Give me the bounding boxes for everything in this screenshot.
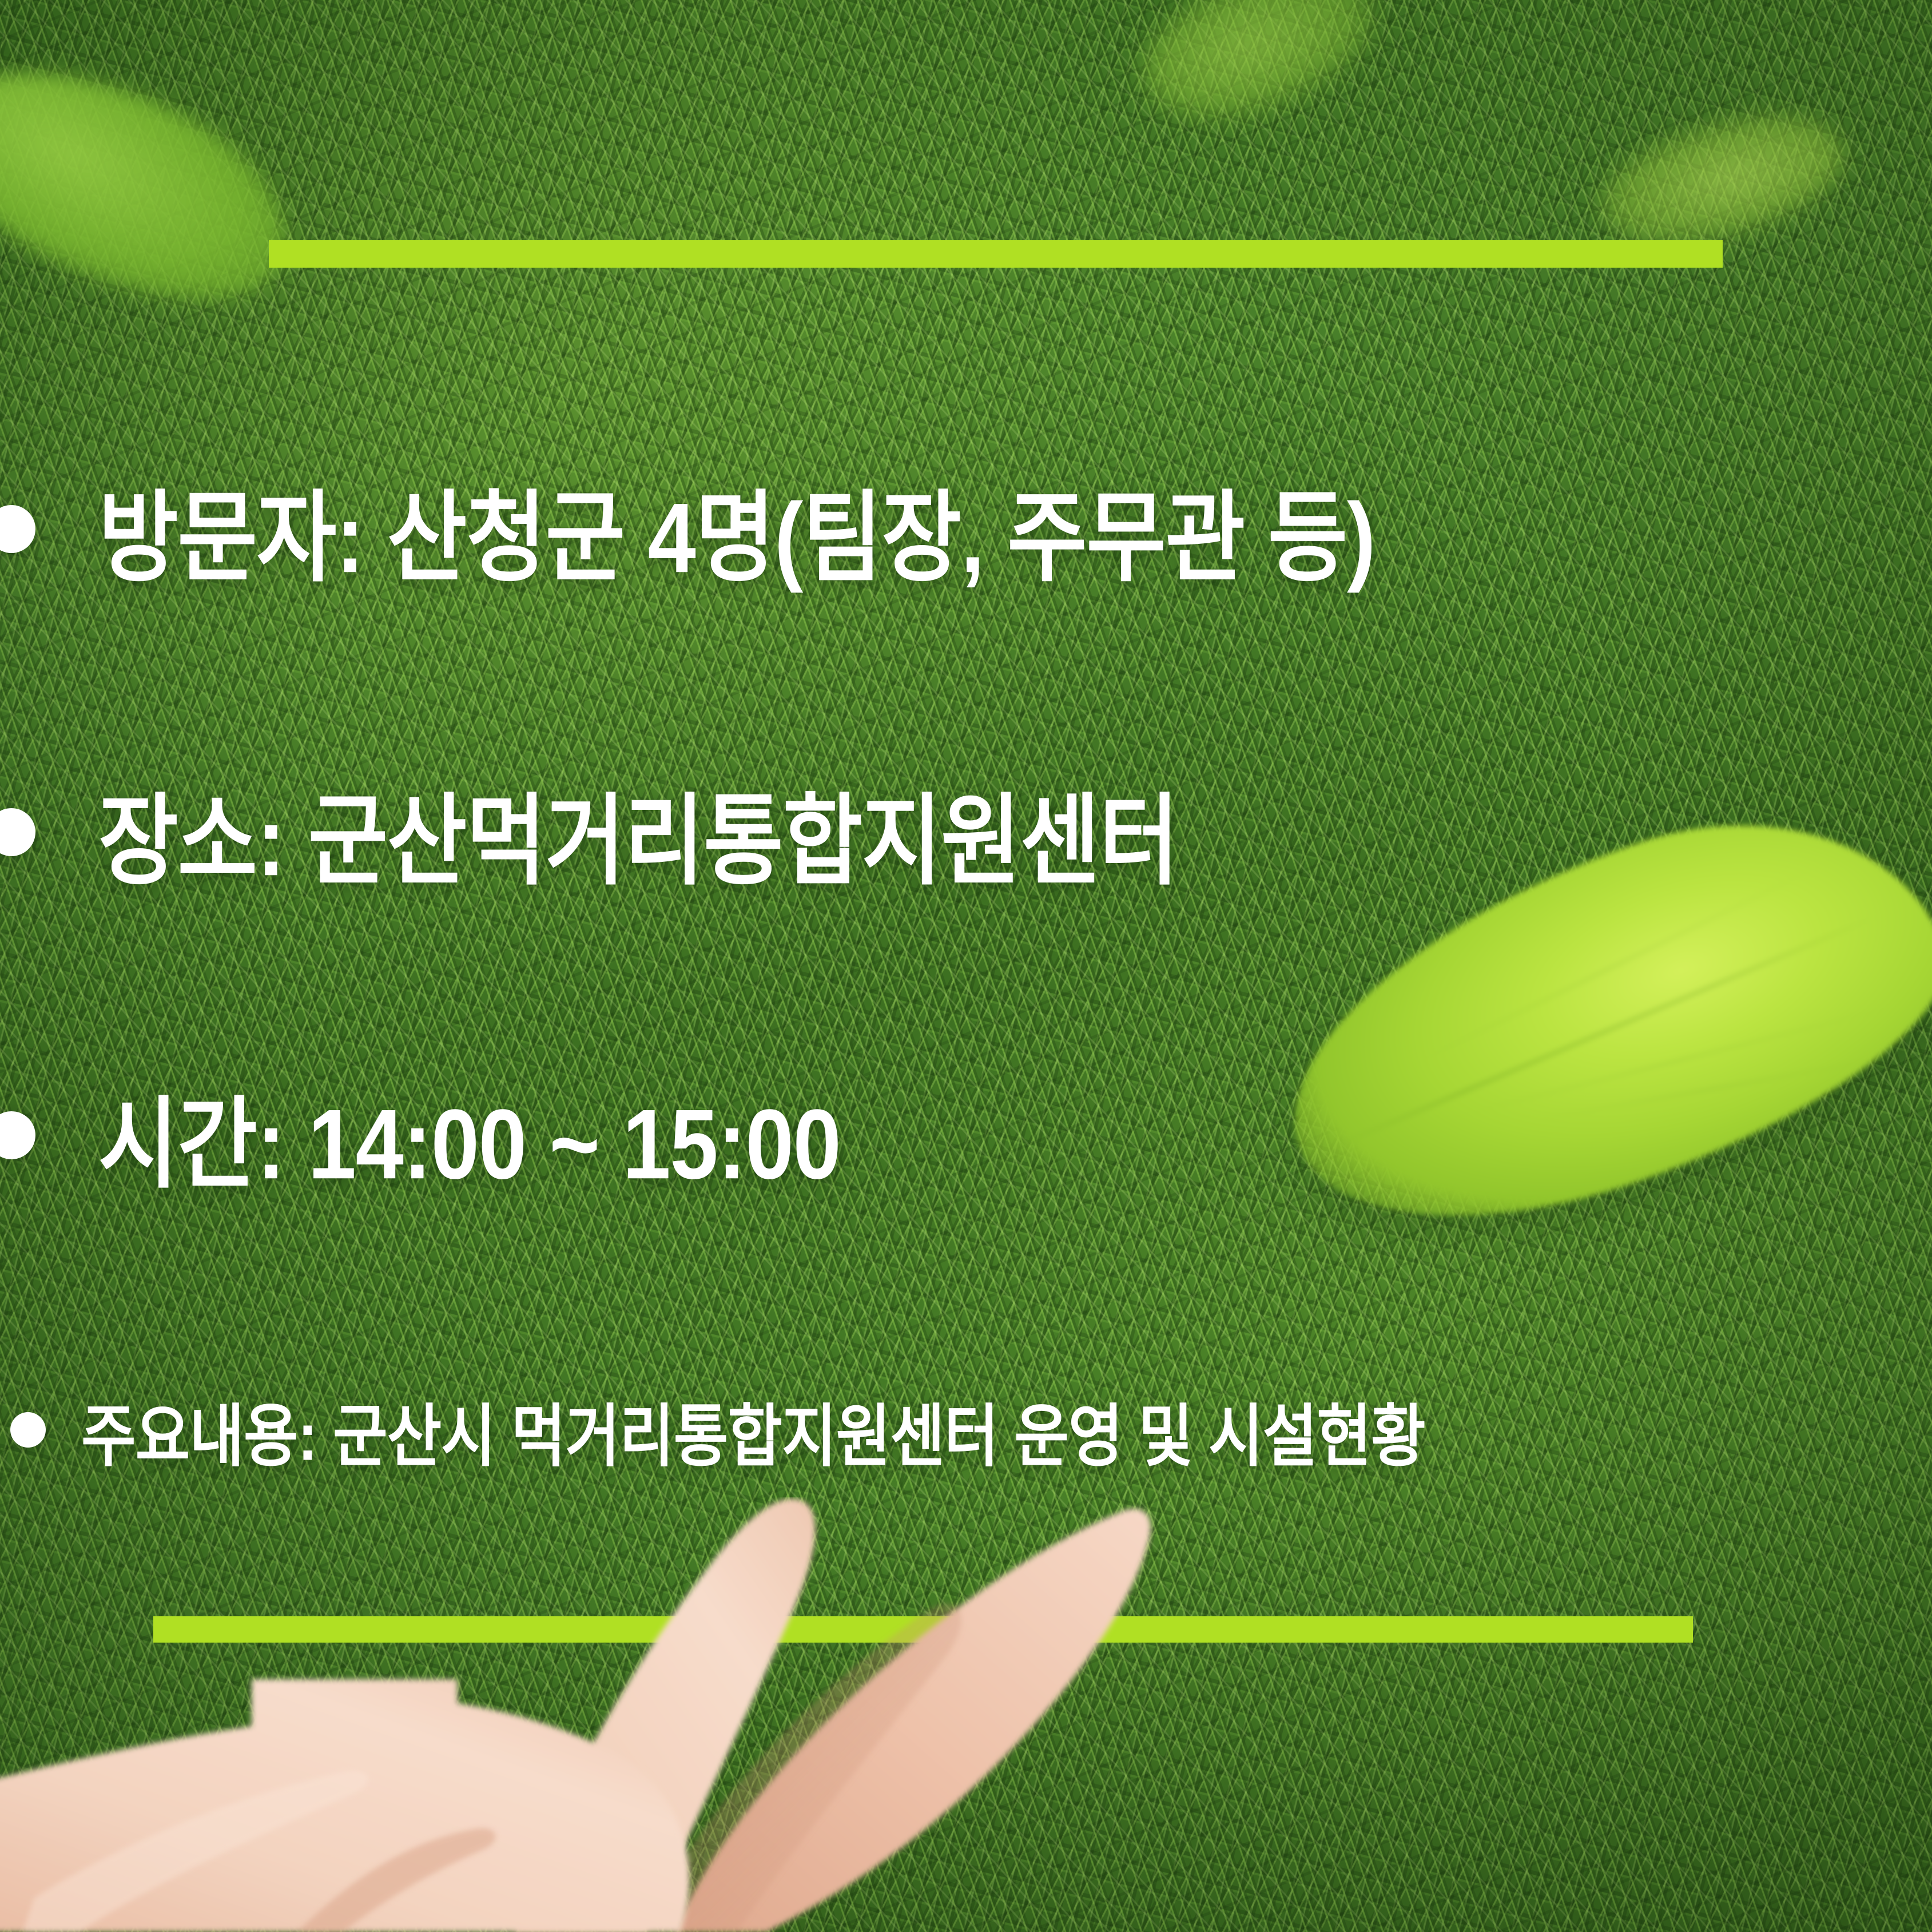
bottom-accent-rule: [153, 1616, 1693, 1643]
bullet-text-agenda: 주요내용: 군산시 먹거리통합지원센터 운영 및 시설현황: [81, 1381, 1425, 1479]
bullet-marker-icon: [0, 1111, 35, 1159]
bullet-text-visitors: 방문자: 산청군 4명(팀장, 주무관 등): [98, 458, 1375, 601]
bullet-marker-icon: [10, 1412, 46, 1448]
bullet-text-place: 장소: 군산먹거리통합지원센터: [98, 761, 1178, 904]
bullet-text-time: 시간: 14:00 ~ 15:00: [98, 1064, 840, 1207]
bullet-item-time: 시간: 14:00 ~ 15:00: [0, 1064, 1932, 1207]
top-accent-rule: [269, 240, 1723, 268]
bullet-marker-icon: [0, 505, 35, 553]
bullet-list: 방문자: 산청군 4명(팀장, 주무관 등) 장소: 군산먹거리통합지원센터 시…: [0, 458, 1932, 1481]
bullet-item-agenda: 주요내용: 군산시 먹거리통합지원센터 운영 및 시설현황: [0, 1378, 1932, 1481]
poster-canvas: 방문자: 산청군 4명(팀장, 주무관 등) 장소: 군산먹거리통합지원센터 시…: [0, 0, 1932, 1932]
bullet-marker-icon: [0, 808, 35, 856]
bullet-item-visitors: 방문자: 산청군 4명(팀장, 주무관 등): [0, 458, 1932, 601]
bullet-item-place: 장소: 군산먹거리통합지원센터: [0, 761, 1932, 904]
